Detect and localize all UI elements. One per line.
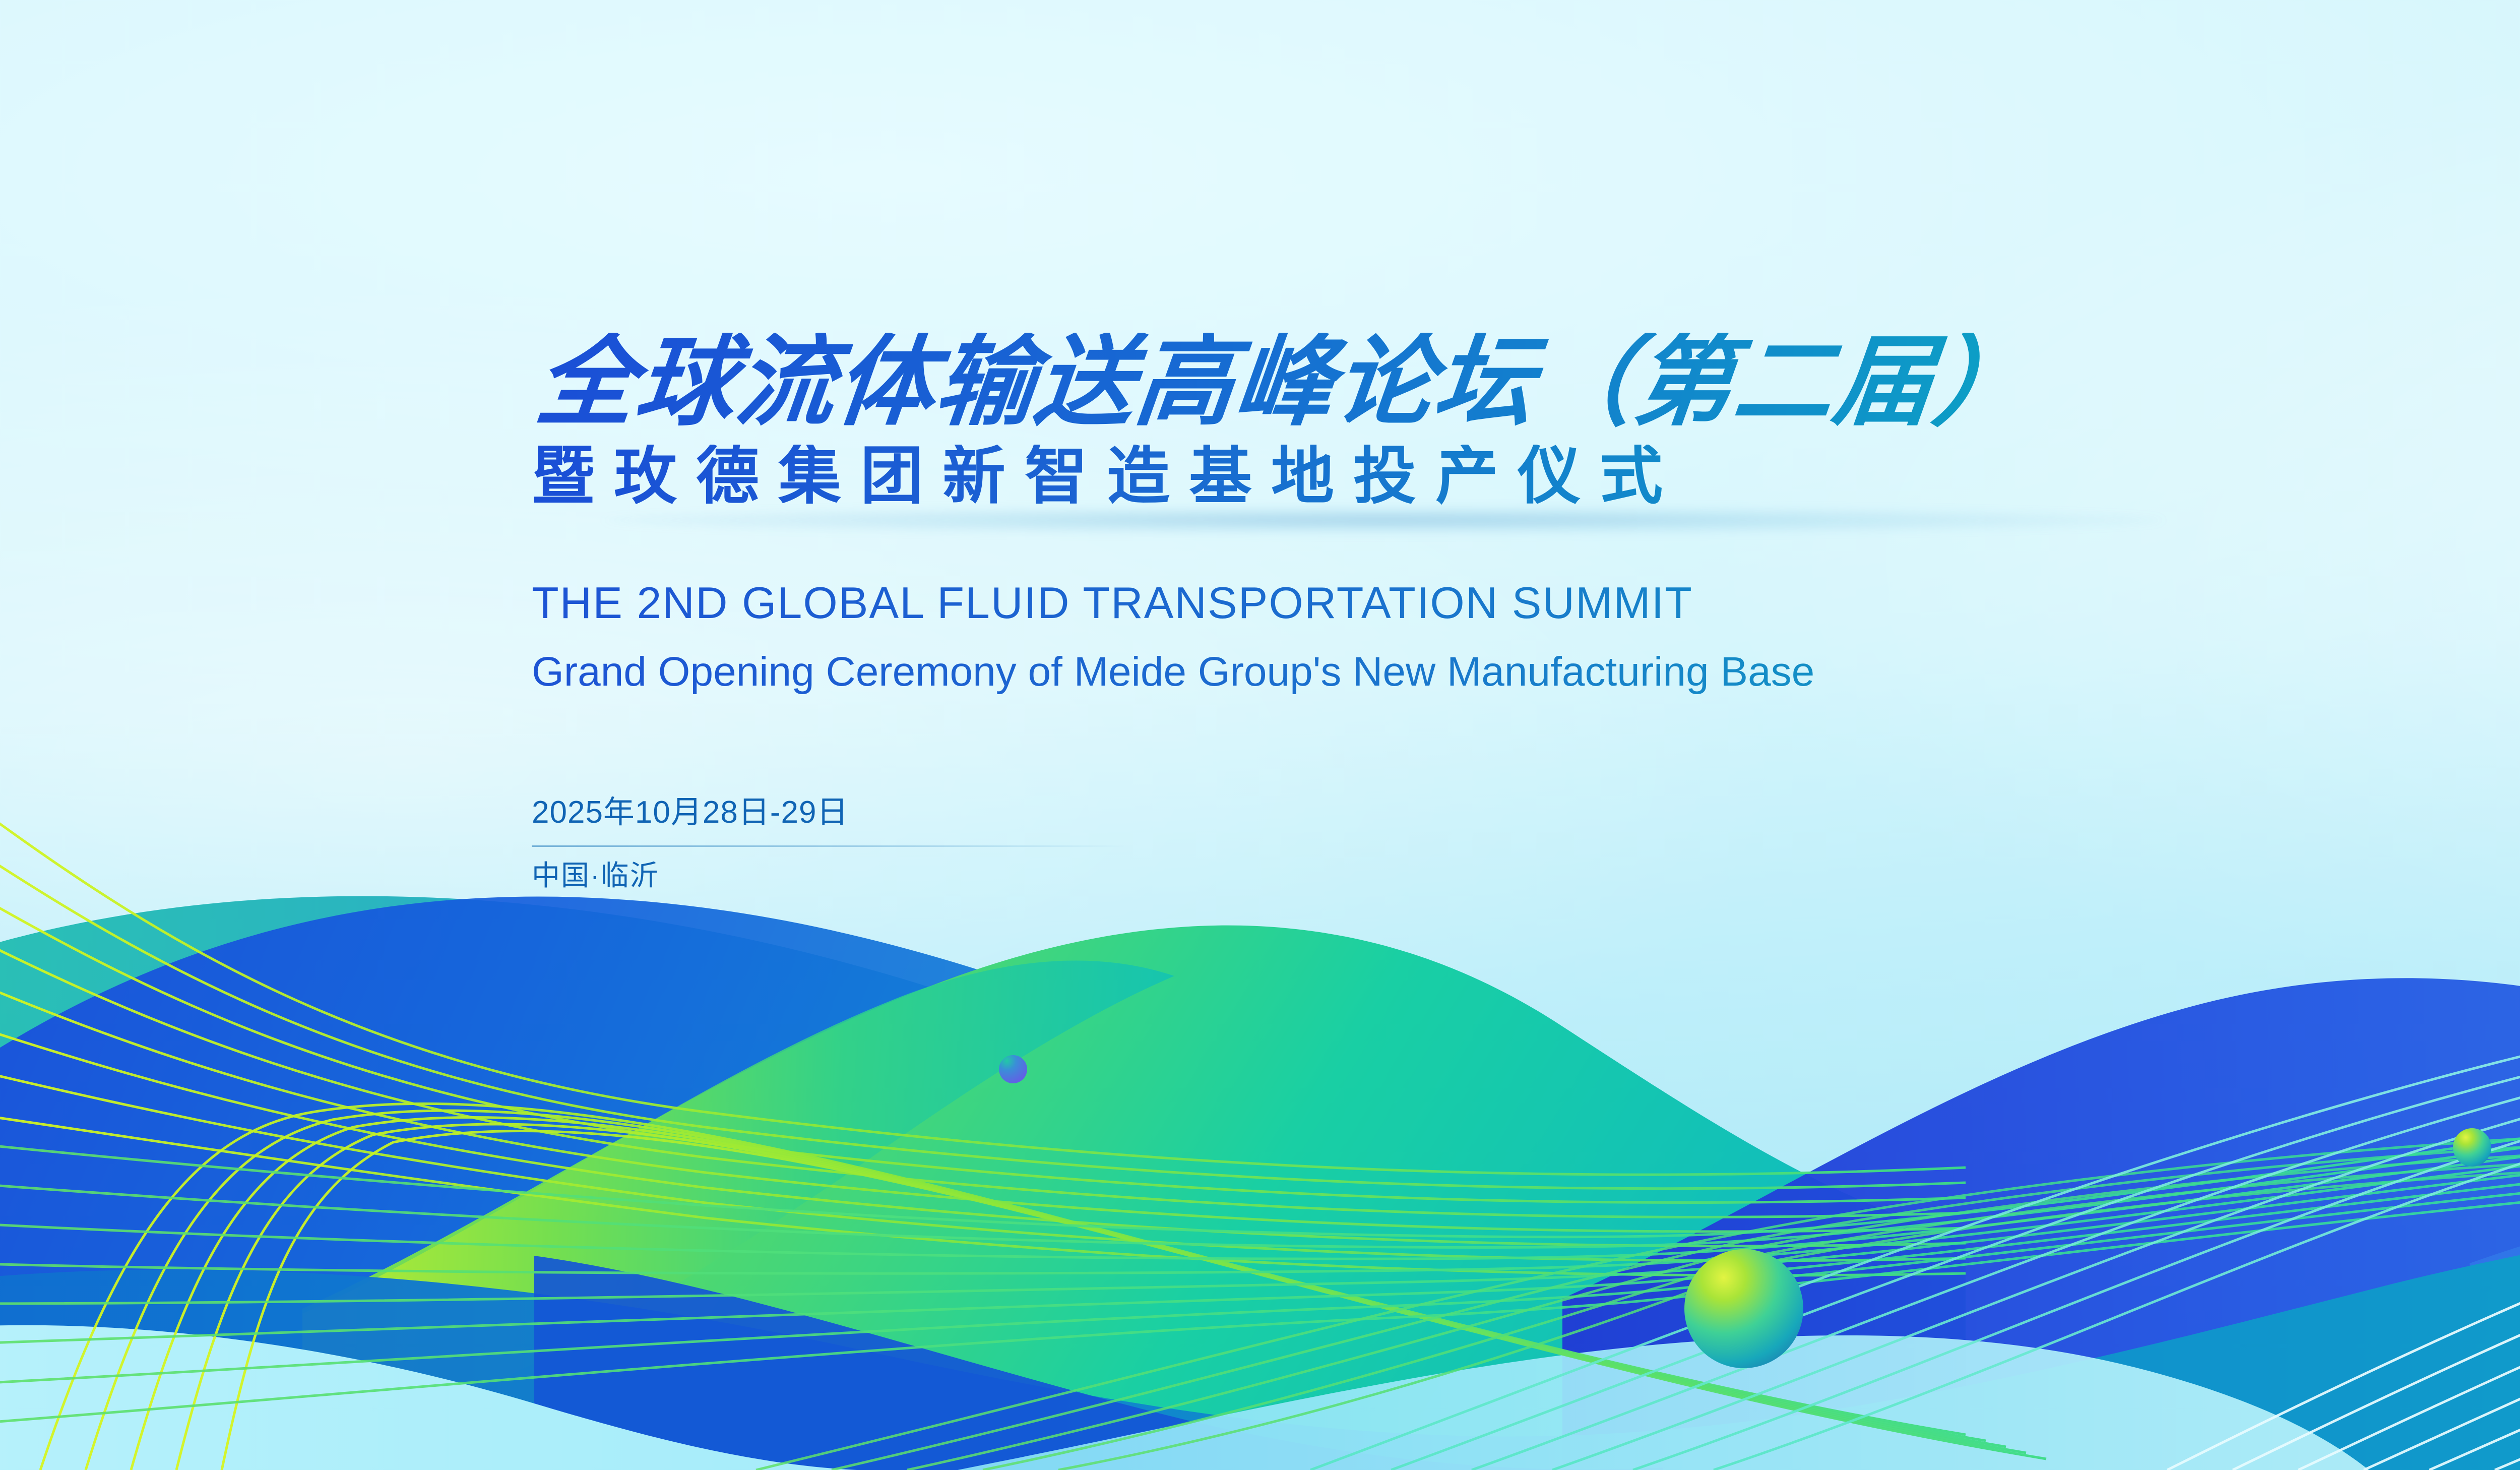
page-subtitle-cn: 暨玫德集团新智造基地投产仪式 [532,445,2520,508]
sphere-small-left [999,1055,1027,1083]
sphere-large-center [1684,1249,1803,1368]
event-location: 中国·临沂 [532,860,1126,891]
banner-text-block: 全球流体输送高峰论坛（第二届） 暨玫德集团新智造基地投产仪式 THE 2ND G… [532,333,2520,891]
page-subtitle-en: Grand Opening Ceremony of Meide Group's … [532,649,2520,695]
subtitle-cn-wrapper: 暨玫德集团新智造基地投产仪式 [532,445,2520,531]
event-date: 2025年10月28日-29日 [532,795,1126,830]
meta-divider [532,845,1126,847]
page-title-cn: 全球流体输送高峰论坛（第二届） [532,333,2520,432]
event-meta: 2025年10月28日-29日 中国·临沂 [532,795,1126,891]
sphere-small-right [2453,1128,2491,1167]
page-title-en: THE 2ND GLOBAL FLUID TRANSPORTATION SUMM… [532,579,2520,626]
banner-poster: 全球流体输送高峰论坛（第二届） 暨玫德集团新智造基地投产仪式 THE 2ND G… [0,0,2520,1470]
